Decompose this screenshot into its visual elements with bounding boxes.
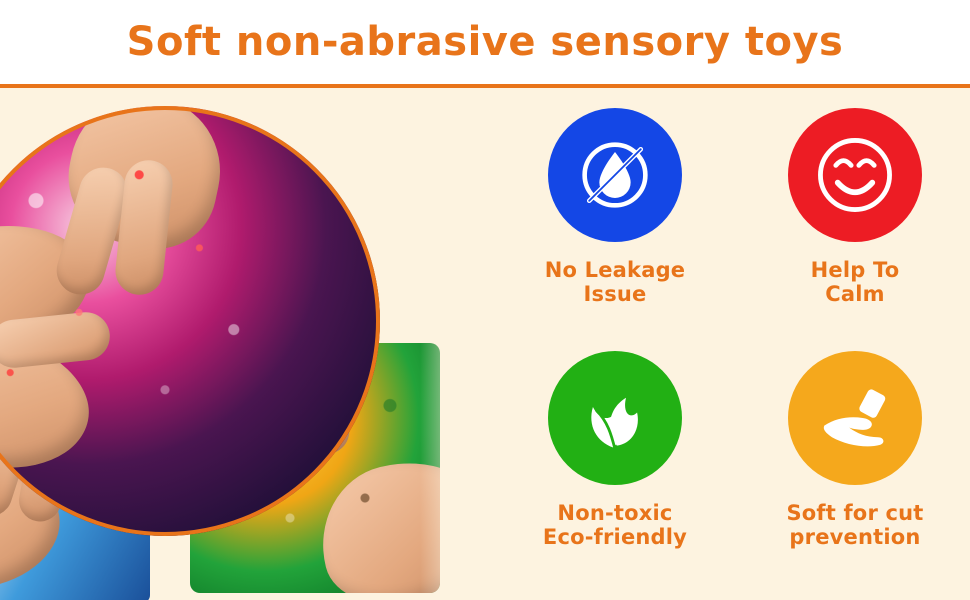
finger-shape (51, 162, 133, 300)
page-title: Soft non-abrasive sensory toys (127, 19, 844, 65)
feature-badge (788, 108, 922, 242)
product-photo-collage (0, 88, 480, 600)
feature-label: Soft for cut prevention (786, 501, 923, 549)
hand-shape (0, 318, 101, 485)
feature-no-leakage: No Leakage Issue (500, 108, 730, 345)
feature-label: Help To Calm (811, 258, 900, 306)
feature-badge (788, 351, 922, 485)
content-area: No Leakage Issue Help To Calm (0, 88, 970, 600)
feature-help-to-calm: Help To Calm (740, 108, 970, 345)
hand-shape (56, 106, 234, 260)
hand-shape (0, 211, 99, 360)
finger-shape (113, 158, 175, 297)
leaf-eco-icon (569, 372, 661, 464)
feature-label: Non-toxic Eco-friendly (543, 501, 687, 549)
product-infographic: Soft non-abrasive sensory toys (0, 0, 970, 600)
photo-fade-edge (420, 88, 480, 600)
pink-sensory-pad-photo (0, 106, 380, 536)
feature-badge (548, 108, 682, 242)
feature-soft-for-cut-prevention: Soft for cut prevention (740, 351, 970, 588)
header-banner: Soft non-abrasive sensory toys (0, 0, 970, 84)
feature-grid: No Leakage Issue Help To Calm (500, 108, 970, 588)
feature-badge (548, 351, 682, 485)
feature-non-toxic: Non-toxic Eco-friendly (500, 351, 730, 588)
finger-shape (0, 310, 112, 370)
feature-label: No Leakage Issue (545, 258, 686, 306)
hand-soft-protection-icon (807, 370, 903, 466)
smiley-face-icon (807, 127, 903, 223)
water-drop-no-leak-icon (569, 129, 661, 221)
